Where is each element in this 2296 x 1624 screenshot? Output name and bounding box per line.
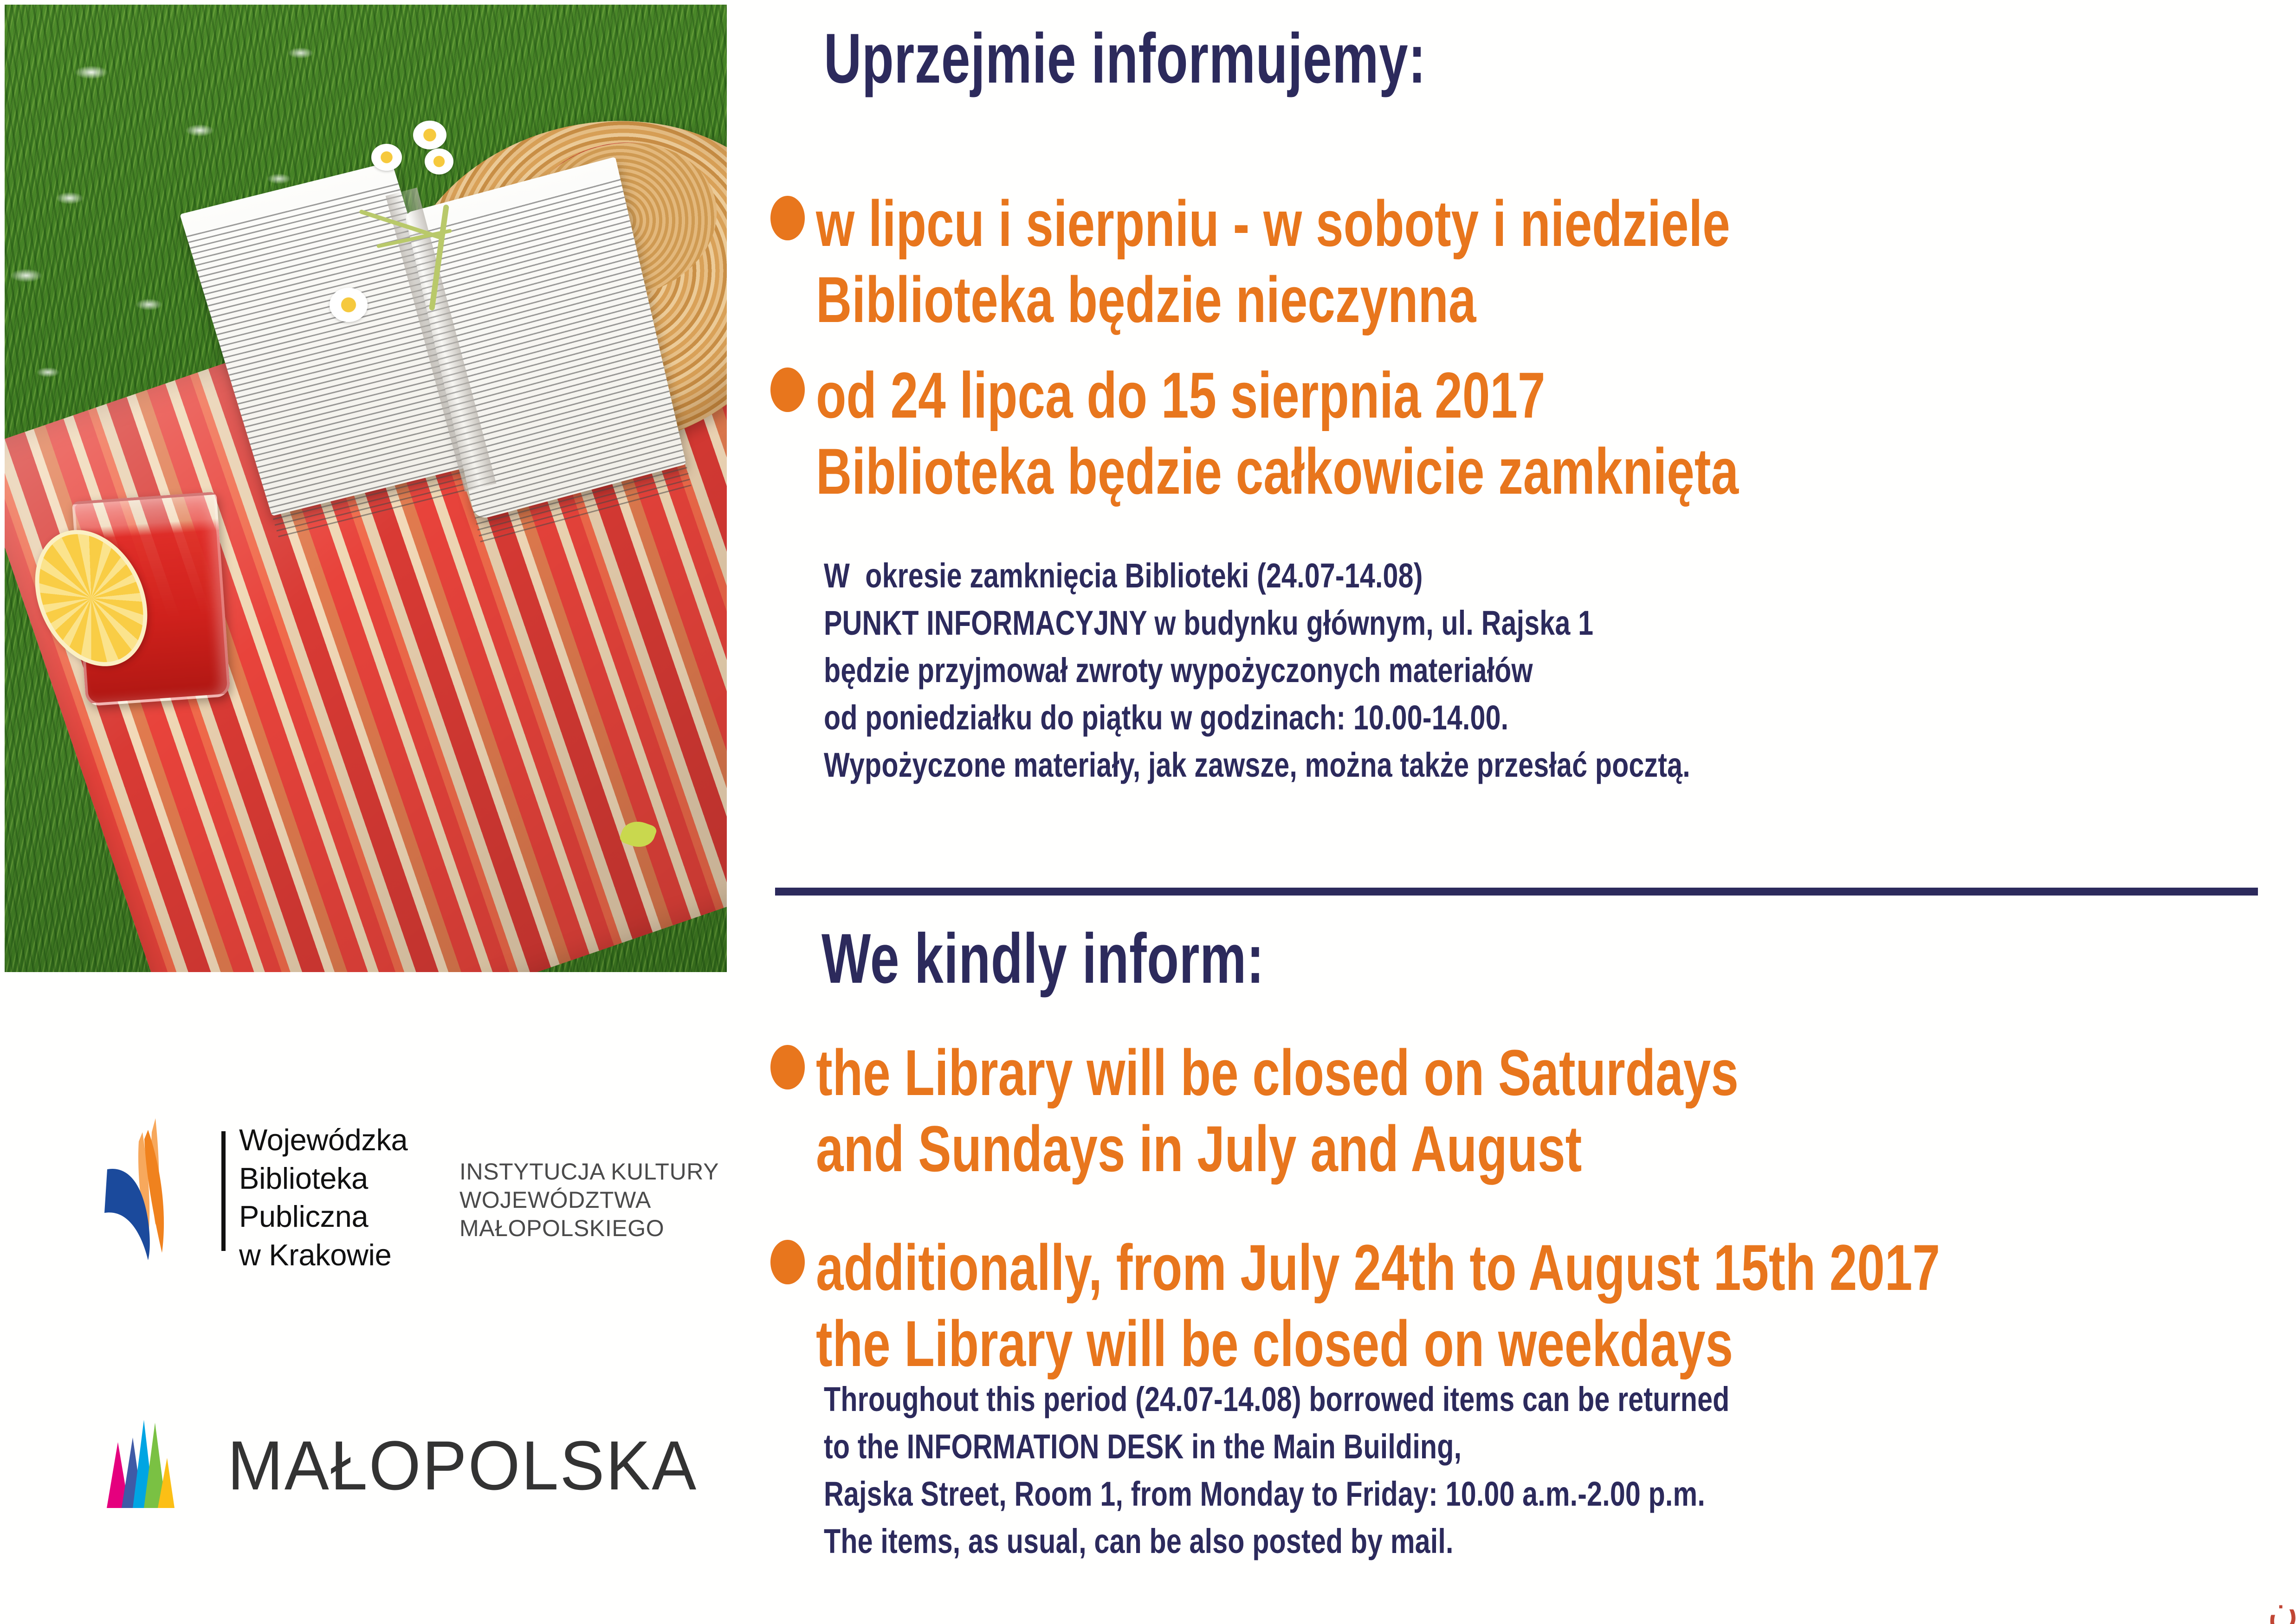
polish-bullet-2: od 24 lipca do 15 sierpnia 2017 Bibliote…: [770, 357, 2022, 509]
daisy-flower: [371, 144, 402, 171]
english-bullet-2: additionally, from July 24th to August 1…: [770, 1230, 2285, 1382]
polish-body-text: W okresie zamknięcia Biblioteki (24.07-1…: [824, 552, 1690, 789]
section-divider: [775, 888, 2258, 896]
english-bullet-1: the Library will be closed on Saturdays …: [770, 1035, 2022, 1187]
corner-watermark-glyph: ن: [2267, 1589, 2296, 1624]
bullet-dot-icon: [770, 367, 805, 412]
english-bullet-2-text: additionally, from July 24th to August 1…: [816, 1230, 1940, 1382]
bullet-dot-icon: [770, 196, 805, 240]
daisy-flower: [330, 288, 368, 322]
text-column: Uprzejmie informujemy: w lipcu i sierpni…: [770, 0, 2296, 1624]
polish-bullet-1-text: w lipcu i sierpniu - w soboty i niedziel…: [816, 186, 1730, 338]
malopolska-wordmark: MAŁOPOLSKA: [227, 1425, 698, 1506]
polish-bullet-2-text: od 24 lipca do 15 sierpnia 2017 Bibliote…: [816, 357, 1739, 509]
bullet-dot-icon: [770, 1045, 805, 1089]
malopolska-logo-mark: [93, 1415, 200, 1508]
polish-heading: Uprzejmie informujemy:: [824, 23, 1426, 94]
malopolska-logo: MAŁOPOLSKA: [93, 1415, 696, 1522]
picnic-photo: [5, 5, 727, 972]
library-logo-divider: [221, 1131, 226, 1251]
library-logo-mark: [100, 1114, 207, 1262]
english-body-text: Throughout this period (24.07-14.08) bor…: [824, 1376, 1729, 1565]
english-heading: We kindly inform:: [821, 923, 1264, 994]
english-bullet-1-text: the Library will be closed on Saturdays …: [816, 1035, 1739, 1187]
daisy-flower: [425, 148, 453, 174]
library-logo-name: Wojewódzka Biblioteka Publiczna w Krakow…: [239, 1121, 407, 1274]
library-logo: Wojewódzka Biblioteka Publiczna w Krakow…: [100, 1114, 517, 1267]
daisy-flower: [413, 121, 446, 149]
polish-bullet-1: w lipcu i sierpniu - w soboty i niedziel…: [770, 186, 2011, 338]
poster-root: Wojewódzka Biblioteka Publiczna w Krakow…: [0, 0, 2296, 1624]
bullet-dot-icon: [770, 1240, 805, 1284]
institution-note: INSTYTUCJA KULTURY WOJEWÓDZTWA MAŁOPOLSK…: [459, 1158, 719, 1243]
